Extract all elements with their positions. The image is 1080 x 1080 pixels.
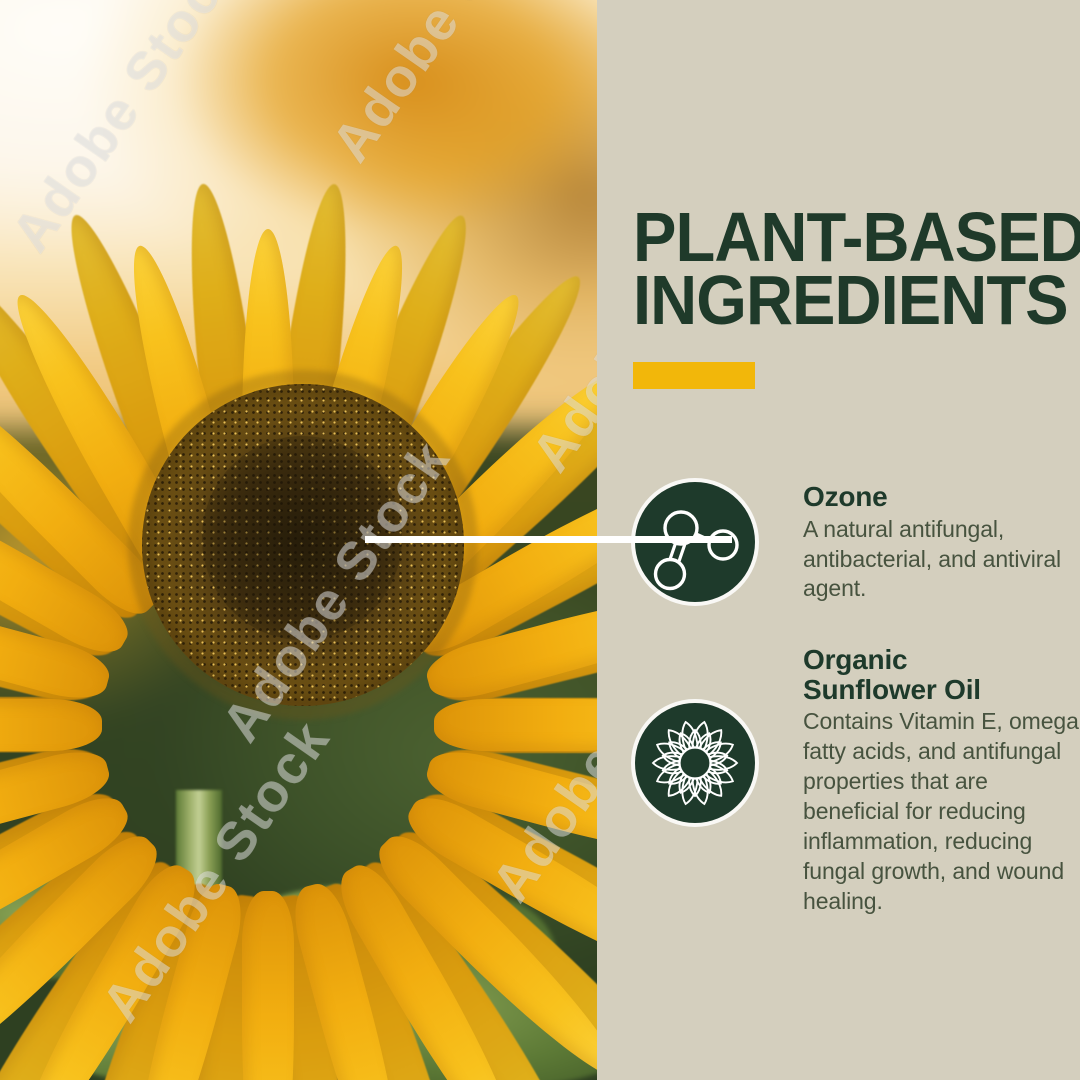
sunflower-icon	[635, 703, 755, 823]
page-title: PLANT-BASED INGREDIENTS	[633, 206, 1063, 332]
infographic-page: Adobe Stock Adobe Stock Adobe Stock Adob…	[0, 0, 1080, 1080]
feature-ozone-text: Ozone A natural antifungal, antibacteria…	[803, 482, 1080, 604]
photo-petal	[434, 699, 597, 751]
feature-ozone-description: A natural antifungal, antibacterial, and…	[803, 515, 1080, 605]
feature-sunflower-oil-title: Organic Sunflower Oil	[803, 645, 1080, 704]
photo-petal	[242, 891, 294, 1080]
photo-flower-disc-ring	[128, 370, 478, 720]
feature-ozone-title: Ozone	[803, 482, 1080, 512]
connector-line	[365, 536, 732, 543]
feature-sunflower-oil-text: Organic Sunflower Oil Contains Vitamin E…	[803, 645, 1080, 917]
title-line-1: PLANT-BASED	[633, 206, 1033, 269]
accent-bar	[633, 362, 755, 389]
sunflower-oil-icon-badge	[635, 703, 755, 823]
feature-sunflower-oil-description: Contains Vitamin E, omega fatty acids, a…	[803, 707, 1080, 916]
photo-petal	[0, 699, 102, 751]
title-line-2: INGREDIENTS	[633, 269, 1033, 332]
